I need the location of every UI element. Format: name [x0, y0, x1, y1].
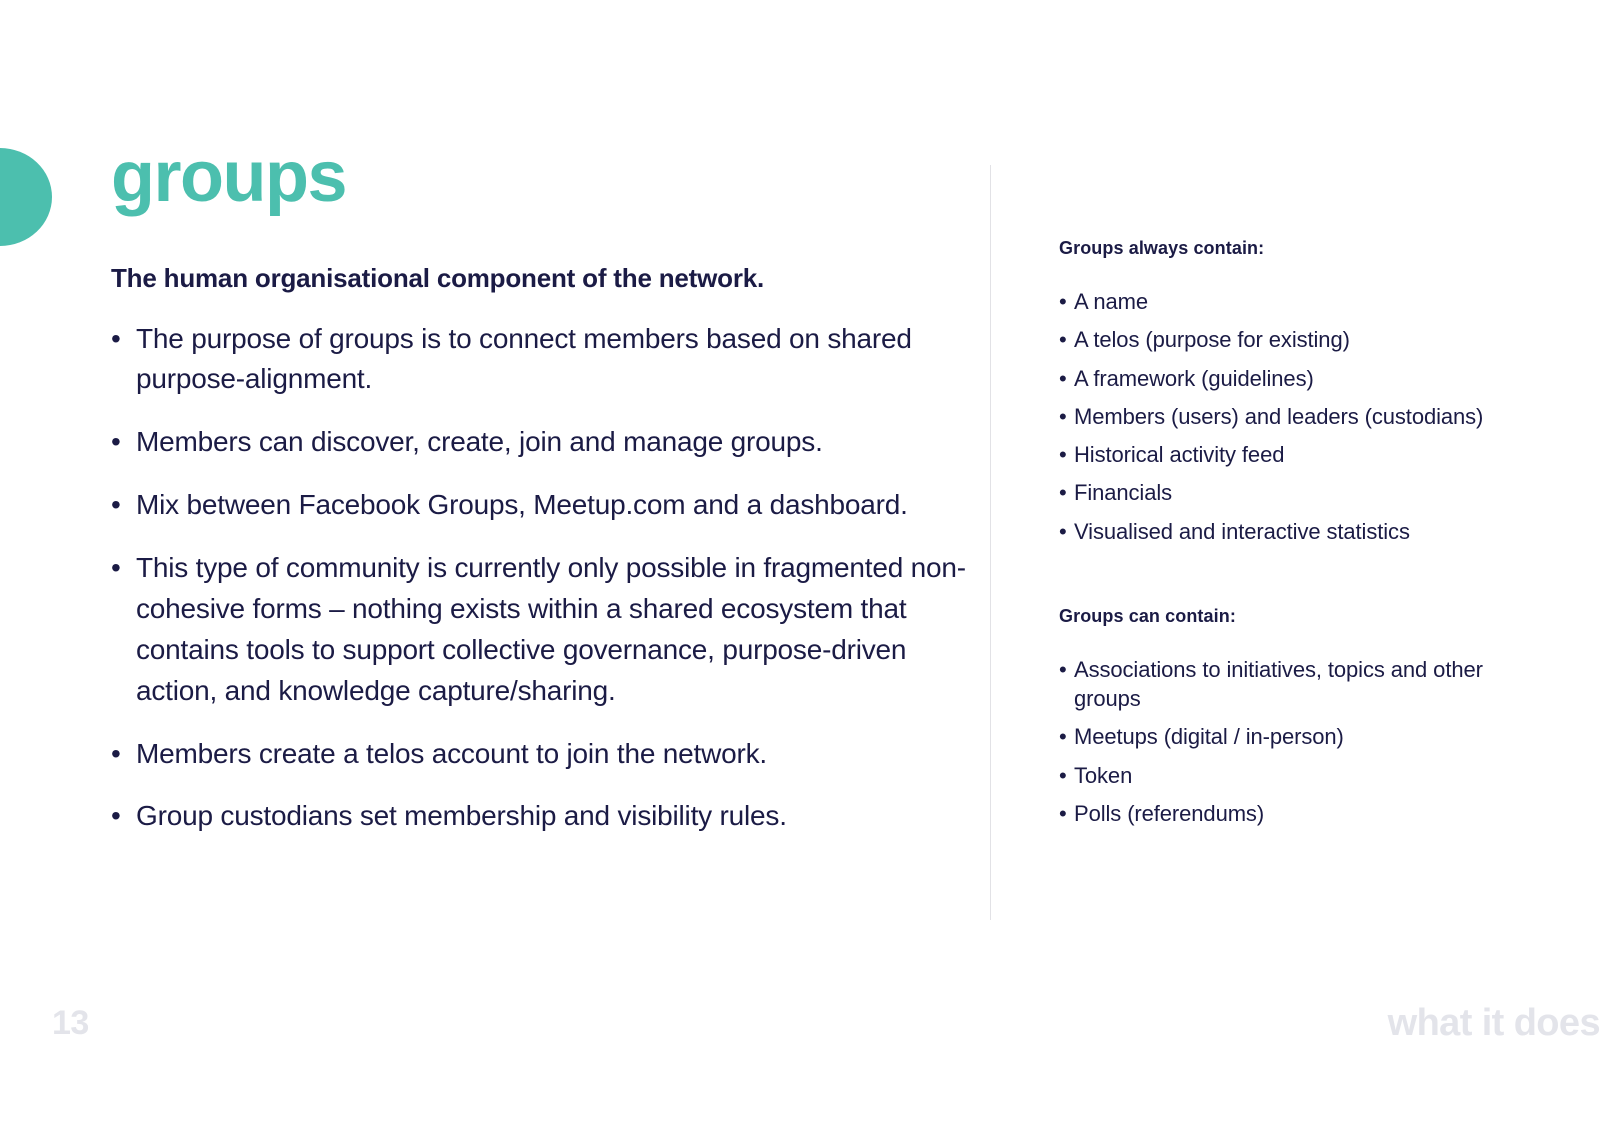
groups-always-contain-heading: Groups always contain:	[1059, 238, 1529, 259]
list-item-text: A telos (purpose for existing)	[1074, 327, 1350, 352]
bullet-icon: •	[1059, 402, 1067, 431]
right-content-column: Groups always contain: •A name •A telos …	[1059, 238, 1529, 828]
list-item: •Associations to initiatives, topics and…	[1059, 655, 1529, 714]
bullet-icon: •	[1059, 478, 1067, 507]
left-content-column: The human organisational component of th…	[111, 262, 971, 837]
list-item: •Visualised and interactive statistics	[1059, 517, 1529, 546]
list-item-text: Members (users) and leaders (custodians)	[1074, 404, 1483, 429]
list-item: •A telos (purpose for existing)	[1059, 325, 1529, 354]
list-item: •Token	[1059, 761, 1529, 790]
list-item: •Polls (referendums)	[1059, 799, 1529, 828]
bullet-icon: •	[111, 796, 121, 837]
list-item: •Mix between Facebook Groups, Meetup.com…	[111, 485, 971, 526]
list-item-text: Members create a telos account to join t…	[136, 738, 767, 769]
bullet-icon: •	[1059, 761, 1067, 790]
list-item: •The purpose of groups is to connect mem…	[111, 319, 971, 401]
bullet-icon: •	[1059, 517, 1067, 546]
list-item: •Members create a telos account to join …	[111, 734, 971, 775]
list-item-text: Associations to initiatives, topics and …	[1074, 657, 1483, 711]
lead-statement: The human organisational component of th…	[111, 262, 971, 295]
list-item: •Historical activity feed	[1059, 440, 1529, 469]
list-item-text: Meetups (digital / in-person)	[1074, 724, 1344, 749]
list-item-text: Mix between Facebook Groups, Meetup.com …	[136, 489, 908, 520]
section-label: what it does	[1388, 1002, 1600, 1045]
bullet-icon: •	[111, 548, 121, 589]
page-number: 13	[52, 1004, 89, 1043]
bullet-icon: •	[1059, 655, 1067, 684]
list-item: •This type of community is currently onl…	[111, 548, 971, 712]
groups-can-contain-list: •Associations to initiatives, topics and…	[1059, 655, 1529, 828]
main-bullet-list: •The purpose of groups is to connect mem…	[111, 319, 971, 838]
bullet-icon: •	[1059, 325, 1067, 354]
list-item-text: The purpose of groups is to connect memb…	[136, 323, 912, 395]
list-item-text: Group custodians set membership and visi…	[136, 800, 787, 831]
groups-always-contain-list: •A name •A telos (purpose for existing) …	[1059, 287, 1529, 546]
bullet-icon: •	[1059, 722, 1067, 751]
bullet-icon: •	[111, 734, 121, 775]
list-item: •Financials	[1059, 478, 1529, 507]
list-item-text: A name	[1074, 289, 1148, 314]
list-item: •Meetups (digital / in-person)	[1059, 722, 1529, 751]
bullet-icon: •	[111, 485, 121, 526]
list-item: •Group custodians set membership and vis…	[111, 796, 971, 837]
list-item: •Members (users) and leaders (custodians…	[1059, 402, 1529, 431]
list-item-text: Historical activity feed	[1074, 442, 1284, 467]
decorative-half-circle	[0, 148, 52, 246]
bullet-icon: •	[111, 422, 121, 463]
bullet-icon: •	[1059, 287, 1067, 316]
column-divider	[990, 165, 991, 920]
list-item-text: Members can discover, create, join and m…	[136, 426, 823, 457]
bullet-icon: •	[1059, 799, 1067, 828]
list-item-text: Polls (referendums)	[1074, 801, 1264, 826]
bullet-icon: •	[111, 319, 121, 360]
list-item: •Members can discover, create, join and …	[111, 422, 971, 463]
list-item: •A framework (guidelines)	[1059, 364, 1529, 393]
groups-can-contain-heading: Groups can contain:	[1059, 606, 1529, 627]
bullet-icon: •	[1059, 364, 1067, 393]
list-item-text: A framework (guidelines)	[1074, 366, 1314, 391]
list-item-text: Visualised and interactive statistics	[1074, 519, 1410, 544]
bullet-icon: •	[1059, 440, 1067, 469]
list-item-text: This type of community is currently only…	[136, 552, 966, 706]
list-item-text: Financials	[1074, 480, 1172, 505]
page-title: groups	[111, 141, 346, 213]
list-item-text: Token	[1074, 763, 1132, 788]
list-item: •A name	[1059, 287, 1529, 316]
slide: groups The human organisational componen…	[0, 0, 1600, 1132]
